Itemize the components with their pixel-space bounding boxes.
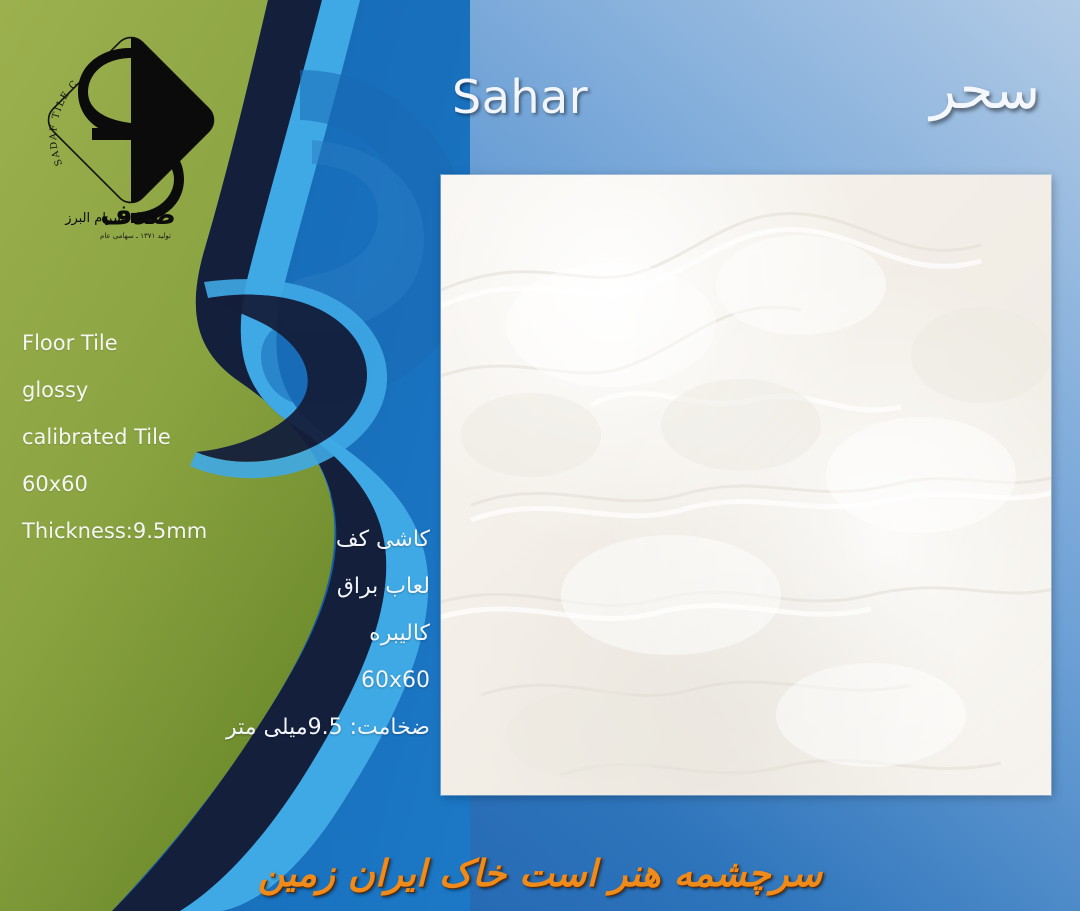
spec-en-calibrated: calibrated Tile <box>22 414 322 461</box>
logo-fa-sub: سرام البرز <box>64 211 124 226</box>
logo-fa-fineprint: تولید ۱۳۷۱ ـ سهامی عام <box>100 232 171 240</box>
tile-sample-image <box>441 175 1051 795</box>
sadaf-diamond-s-logo-icon: SADAF TILE CO. صدف سرام البرز تولید ۱۳۷۱… <box>36 28 226 243</box>
product-title-en: Sahar <box>452 70 588 124</box>
spec-en-floor-tile: Floor Tile <box>22 320 322 367</box>
tile-marble-texture <box>441 175 1051 795</box>
logo-outline-text: SADAF TILE CO. <box>36 28 81 167</box>
spec-en-size: 60x60 <box>22 461 322 508</box>
spec-fa-floor-tile: کاشی کف <box>150 516 430 563</box>
spec-fa-glossy: لعاب براق <box>150 563 430 610</box>
tile-product-poster: SADAF TILE CO. صدف سرام البرز تولید ۱۳۷۱… <box>0 0 1080 911</box>
company-slogan-fa: سرچشمه هنر است خاک ایران زمین <box>0 852 1080 895</box>
sadaf-tile-logo: SADAF TILE CO. صدف سرام البرز تولید ۱۳۷۱… <box>36 28 226 243</box>
spec-fa-thickness: ضخامت: 9.5میلی متر <box>150 704 430 751</box>
spec-fa-calibrated: کالیبره <box>150 610 430 657</box>
specs-list-fa: کاشی کف لعاب براق کالیبره 60x60 ضخامت: 9… <box>150 516 430 751</box>
product-title-fa: سحر <box>930 58 1040 121</box>
spec-en-glossy: glossy <box>22 367 322 414</box>
spec-fa-size: 60x60 <box>150 657 430 704</box>
